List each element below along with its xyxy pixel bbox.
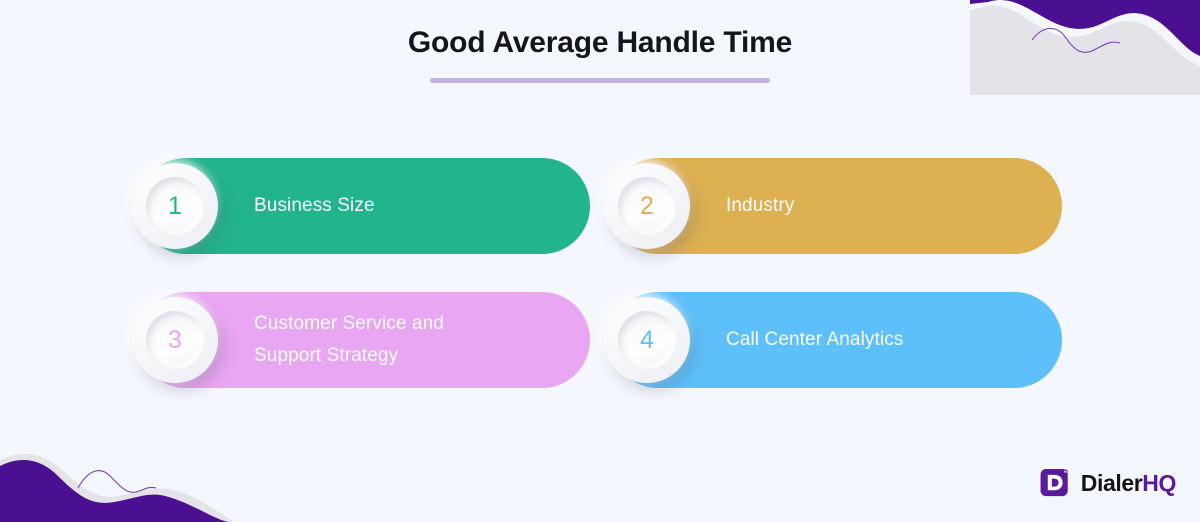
number-badge: 4 bbox=[604, 297, 690, 383]
card-label: Call Center Analytics bbox=[726, 324, 903, 356]
number-badge-value: 2 bbox=[640, 194, 654, 219]
card-customer-service-and-support-strategy[interactable]: 3 Customer Service and Support Strategy bbox=[138, 292, 590, 388]
number-badge-inner: 4 bbox=[618, 311, 676, 369]
number-badge-value: 4 bbox=[640, 328, 654, 353]
wave-squiggle-line bbox=[78, 471, 156, 493]
page-header: Good Average Handle Time bbox=[0, 26, 1200, 83]
infographic-canvas: Good Average Handle Time 1 Business Size… bbox=[0, 0, 1200, 522]
number-badge: 1 bbox=[132, 163, 218, 249]
bottom-left-wave-decoration bbox=[0, 422, 235, 522]
card-label: Industry bbox=[726, 190, 794, 222]
number-badge-value: 1 bbox=[168, 194, 182, 219]
card-label: Business Size bbox=[254, 190, 375, 222]
number-badge: 3 bbox=[132, 297, 218, 383]
card-label: Customer Service and Support Strategy bbox=[254, 308, 444, 372]
card-call-center-analytics[interactable]: 4 Call Center Analytics bbox=[610, 292, 1062, 388]
wave-blob-shape bbox=[0, 460, 228, 522]
factor-card-grid: 1 Business Size 2 Industry 3 Customer Se… bbox=[138, 158, 1062, 388]
logo-text-primary: Dialer bbox=[1081, 470, 1143, 496]
card-business-size[interactable]: 1 Business Size bbox=[138, 158, 590, 254]
page-title: Good Average Handle Time bbox=[0, 26, 1200, 59]
number-badge-inner: 3 bbox=[146, 311, 204, 369]
dialerhq-logo[interactable]: DialerHQ bbox=[1038, 466, 1176, 500]
title-underline-rule bbox=[430, 78, 770, 83]
dialerhq-wordmark: DialerHQ bbox=[1081, 472, 1176, 495]
wave-shadow-shape bbox=[0, 454, 235, 522]
logo-text-secondary: HQ bbox=[1142, 470, 1176, 496]
number-badge-value: 3 bbox=[168, 328, 182, 353]
card-industry[interactable]: 2 Industry bbox=[610, 158, 1062, 254]
number-badge: 2 bbox=[604, 163, 690, 249]
dialerhq-mark-icon bbox=[1038, 466, 1072, 500]
number-badge-inner: 1 bbox=[146, 177, 204, 235]
number-badge-inner: 2 bbox=[618, 177, 676, 235]
